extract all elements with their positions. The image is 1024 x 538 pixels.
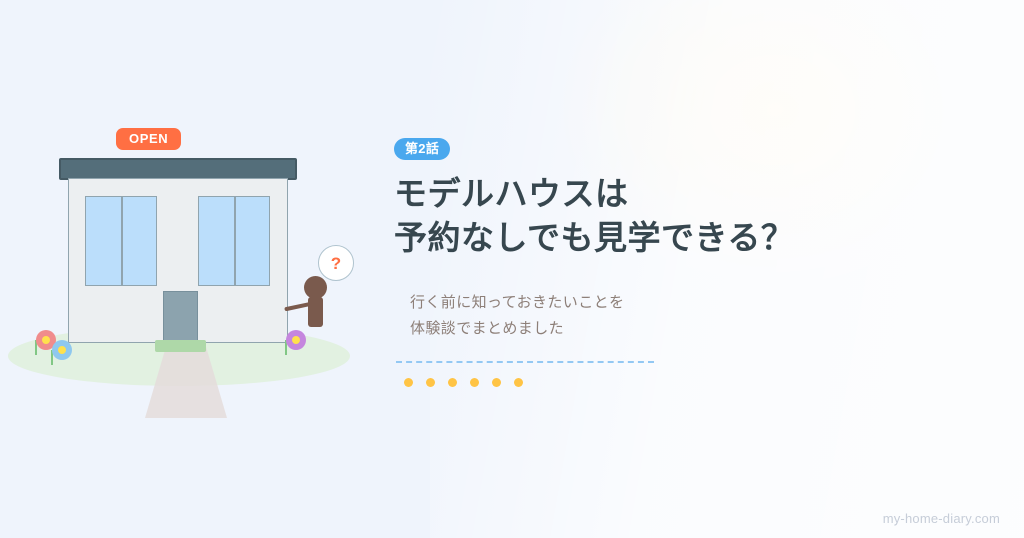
house-window-left bbox=[85, 196, 157, 286]
decorative-dot bbox=[514, 378, 523, 387]
dashed-divider bbox=[396, 361, 654, 363]
house-window-right bbox=[198, 196, 270, 286]
person-body bbox=[308, 297, 323, 327]
flower-center bbox=[42, 336, 50, 344]
window-mullion bbox=[121, 197, 123, 285]
page-title: モデルハウスは 予約なしでも見学できる？ bbox=[394, 172, 914, 260]
subtitle-line-2: 体験談でまとめました bbox=[410, 316, 914, 342]
person-head bbox=[304, 276, 327, 299]
flower-center bbox=[292, 336, 300, 344]
thumbnail-canvas: OPEN ? bbox=[0, 0, 1024, 538]
open-sign-badge: OPEN bbox=[116, 128, 181, 150]
window-mullion bbox=[234, 197, 236, 285]
episode-badge: 第2話 bbox=[394, 138, 450, 160]
text-panel: 第2話 モデルハウスは 予約なしでも見学できる？ 行く前に知っておきたいことを … bbox=[394, 138, 914, 387]
decorative-dot-row bbox=[404, 378, 914, 387]
house-illustration: OPEN ? bbox=[0, 0, 370, 440]
question-bubble-icon: ? bbox=[318, 245, 354, 281]
decorative-dot bbox=[492, 378, 501, 387]
person-arm bbox=[284, 302, 310, 311]
flower-center bbox=[58, 346, 66, 354]
decorative-dot bbox=[426, 378, 435, 387]
decorative-dot bbox=[470, 378, 479, 387]
subtitle-line-1: 行く前に知っておきたいことを bbox=[410, 290, 914, 316]
decorative-dot bbox=[448, 378, 457, 387]
decorative-dot bbox=[404, 378, 413, 387]
house-roof bbox=[59, 158, 297, 180]
page-subtitle: 行く前に知っておきたいことを 体験談でまとめました bbox=[410, 290, 914, 342]
house-door bbox=[163, 291, 198, 343]
door-step bbox=[155, 340, 206, 352]
headline-line-2: 予約なしでも見学できる？ bbox=[394, 216, 914, 260]
site-watermark: my-home-diary.com bbox=[883, 511, 1000, 526]
headline-line-1: モデルハウスは bbox=[394, 172, 914, 216]
